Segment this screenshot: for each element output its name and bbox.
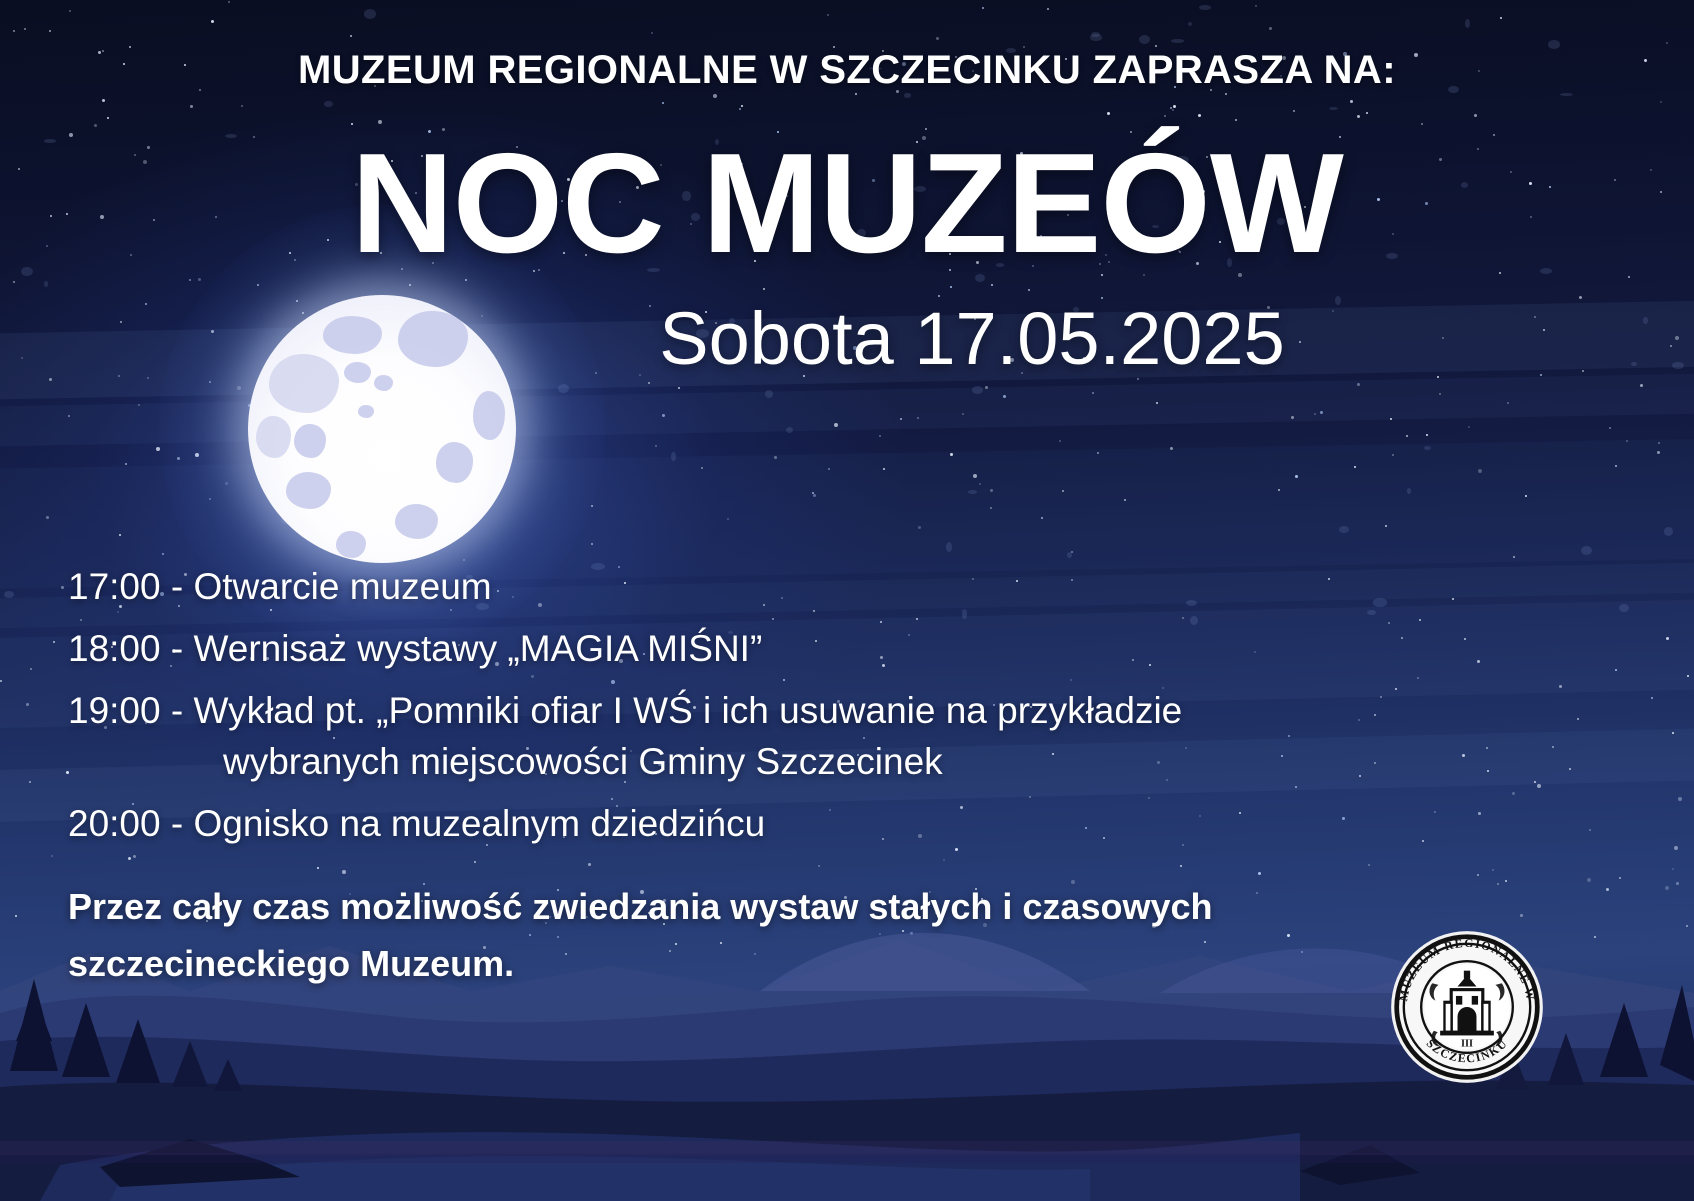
museum-seal-logo: MUZEUM REGIONALNE W SZCZECINKU III: [1388, 928, 1546, 1086]
schedule-dash: -: [171, 566, 183, 607]
schedule-time: 20:00: [68, 803, 161, 844]
schedule-item: 17:00 - Otwarcie muzeum: [68, 568, 1488, 605]
moon-crater: [473, 391, 505, 439]
schedule-text-continuation: wybranych miejscowości Gminy Szczecinek: [68, 743, 1488, 780]
schedule-item: 19:00 - Wykład pt. „Pomniki ofiar I WŚ i…: [68, 692, 1488, 780]
schedule-dash: -: [171, 690, 183, 731]
moon-crater: [286, 472, 332, 510]
seal-inner-label: III: [1461, 1039, 1473, 1050]
closing-note: Przez cały czas możliwość zwiedzania wys…: [68, 879, 1398, 993]
moon-crater: [294, 424, 326, 459]
schedule-text: Wernisaż wystawy „MAGIA MIŚNI”: [193, 628, 762, 669]
schedule-text: Ognisko na muzealnym dziedzińcu: [193, 803, 765, 844]
schedule-item: 18:00 - Wernisaż wystawy „MAGIA MIŚNI”: [68, 630, 1488, 667]
schedule-time: 19:00: [68, 690, 161, 731]
closing-note-line-2: szczecineckiego Muzeum.: [68, 936, 1398, 993]
schedule-list: 17:00 - Otwarcie muzeum 18:00 - Wernisaż…: [68, 568, 1488, 867]
moon-crater: [256, 416, 291, 459]
schedule-time: 17:00: [68, 566, 161, 607]
schedule-dash: -: [171, 628, 183, 669]
moon-crater: [336, 531, 365, 558]
moon-crater: [358, 405, 374, 418]
event-date: Sobota 17.05.2025: [0, 296, 1694, 381]
moon-crater: [436, 442, 474, 482]
poster-canvas: MUZEUM REGIONALNE W SZCZECINKU ZAPRASZA …: [0, 0, 1694, 1201]
schedule-text: Otwarcie muzeum: [193, 566, 491, 607]
schedule-dash: -: [171, 803, 183, 844]
closing-note-line-1: Przez cały czas możliwość zwiedzania wys…: [68, 879, 1398, 936]
schedule-item: 20:00 - Ognisko na muzealnym dziedzińcu: [68, 805, 1488, 842]
page-title: NOC MUZEÓW: [0, 133, 1694, 275]
schedule-text: Wykład pt. „Pomniki ofiar I WŚ i ich usu…: [193, 690, 1182, 731]
page-kicker: MUZEUM REGIONALNE W SZCZECINKU ZAPRASZA …: [0, 48, 1694, 93]
schedule-time: 18:00: [68, 628, 161, 669]
moon-crater: [395, 504, 438, 539]
